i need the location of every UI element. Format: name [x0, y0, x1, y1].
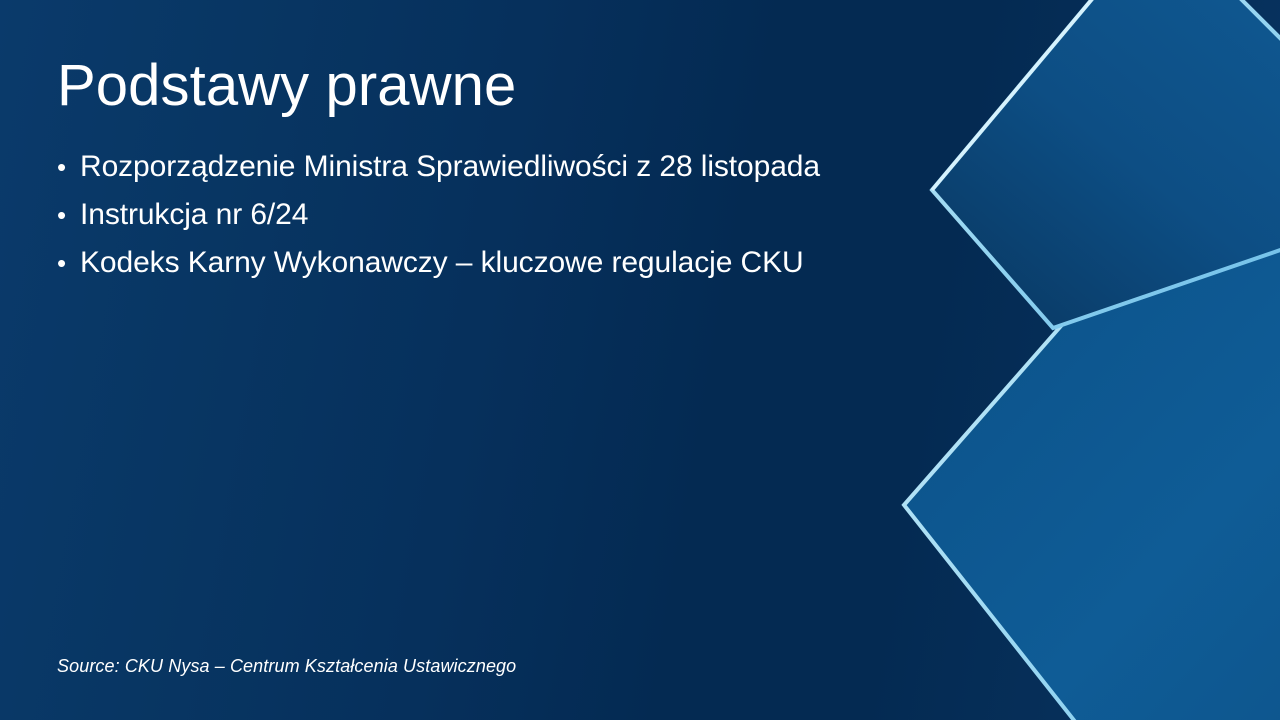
page-title: Podstawy prawne [57, 54, 516, 119]
list-item: • Kodeks Karny Wykonawczy – kluczowe reg… [57, 248, 957, 296]
bullet-point-icon: • [57, 250, 80, 276]
list-item: • Rozporządzenie Ministra Sprawiedliwośc… [57, 152, 957, 200]
list-item-label: Instrukcja nr 6/24 [80, 200, 308, 230]
list-item-label: Rozporządzenie Ministra Sprawiedliwości … [80, 152, 820, 182]
bullet-point-icon: • [57, 202, 80, 228]
list-item-label: Kodeks Karny Wykonawczy – kluczowe regul… [80, 248, 804, 278]
bullet-list: • Rozporządzenie Ministra Sprawiedliwośc… [57, 152, 957, 296]
presentation-slide: Podstawy prawne • Rozporządzenie Ministr… [0, 0, 1280, 720]
bullet-point-icon: • [57, 154, 80, 180]
source-attribution: Source: CKU Nysa – Centrum Kształcenia U… [57, 656, 516, 677]
list-item: • Instrukcja nr 6/24 [57, 200, 957, 248]
slide-content: Podstawy prawne • Rozporządzenie Ministr… [0, 0, 1280, 720]
